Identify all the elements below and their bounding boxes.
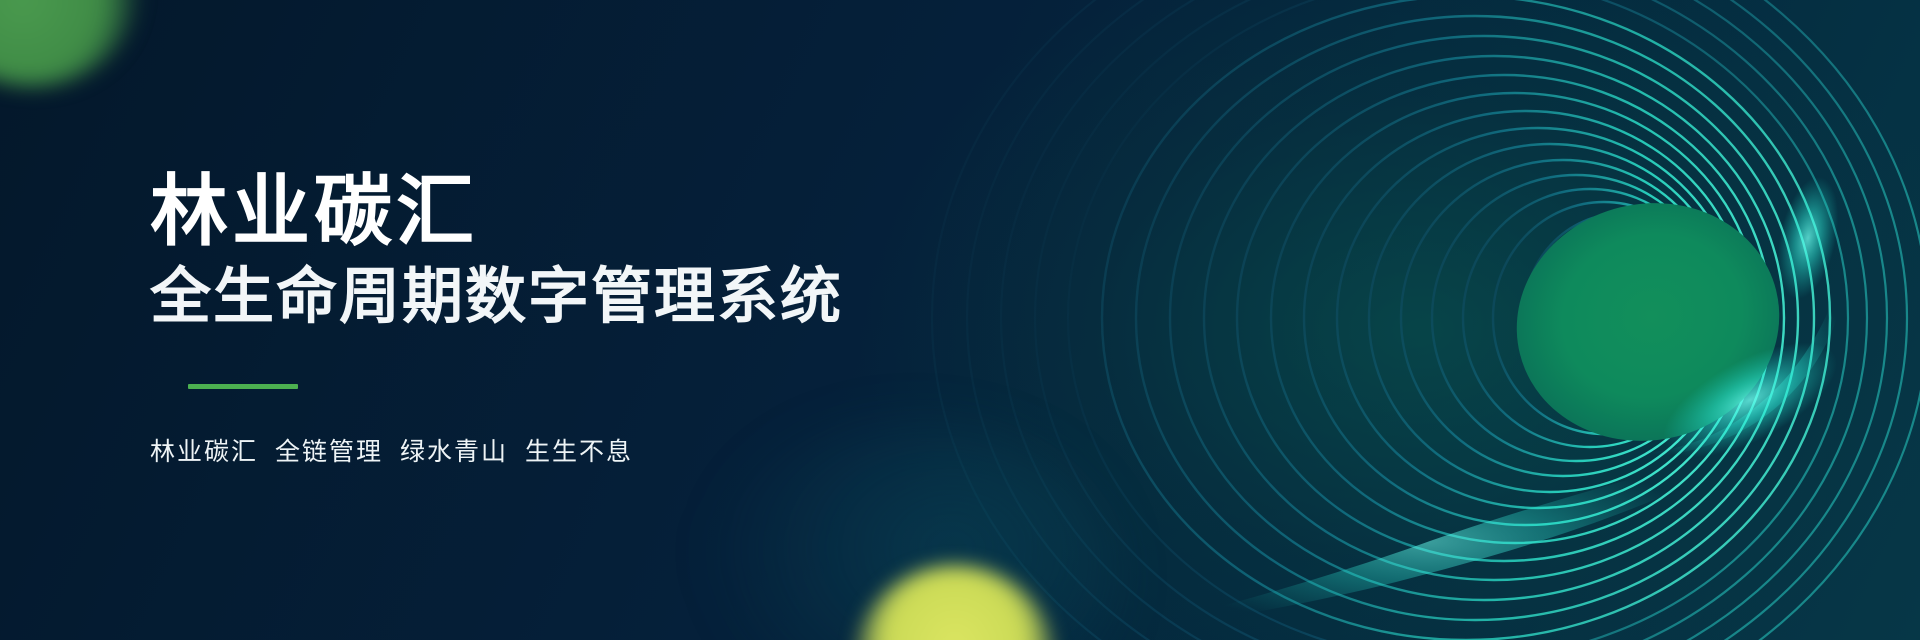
vortex-rings-graphic [740,0,1920,640]
tagline-part-2: 全链管理 [275,438,383,466]
tagline-part-3: 绿水青山 [400,438,508,466]
page-subtitle: 全生命周期数字管理系统 [150,264,910,329]
page-title: 林业碳汇 [150,172,910,252]
tagline-part-4: 生生不息 [525,438,633,466]
vortex-svg [740,0,1920,640]
hero-content: 林业碳汇 全生命周期数字管理系统 林业碳汇全链管理绿水青山生生不息 [150,0,910,640]
tagline: 林业碳汇全链管理绿水青山生生不息 [150,432,910,468]
hero-banner: 林业碳汇 全生命周期数字管理系统 林业碳汇全链管理绿水青山生生不息 [0,0,1920,640]
tagline-part-1: 林业碳汇 [150,438,258,466]
accent-divider [188,384,298,389]
